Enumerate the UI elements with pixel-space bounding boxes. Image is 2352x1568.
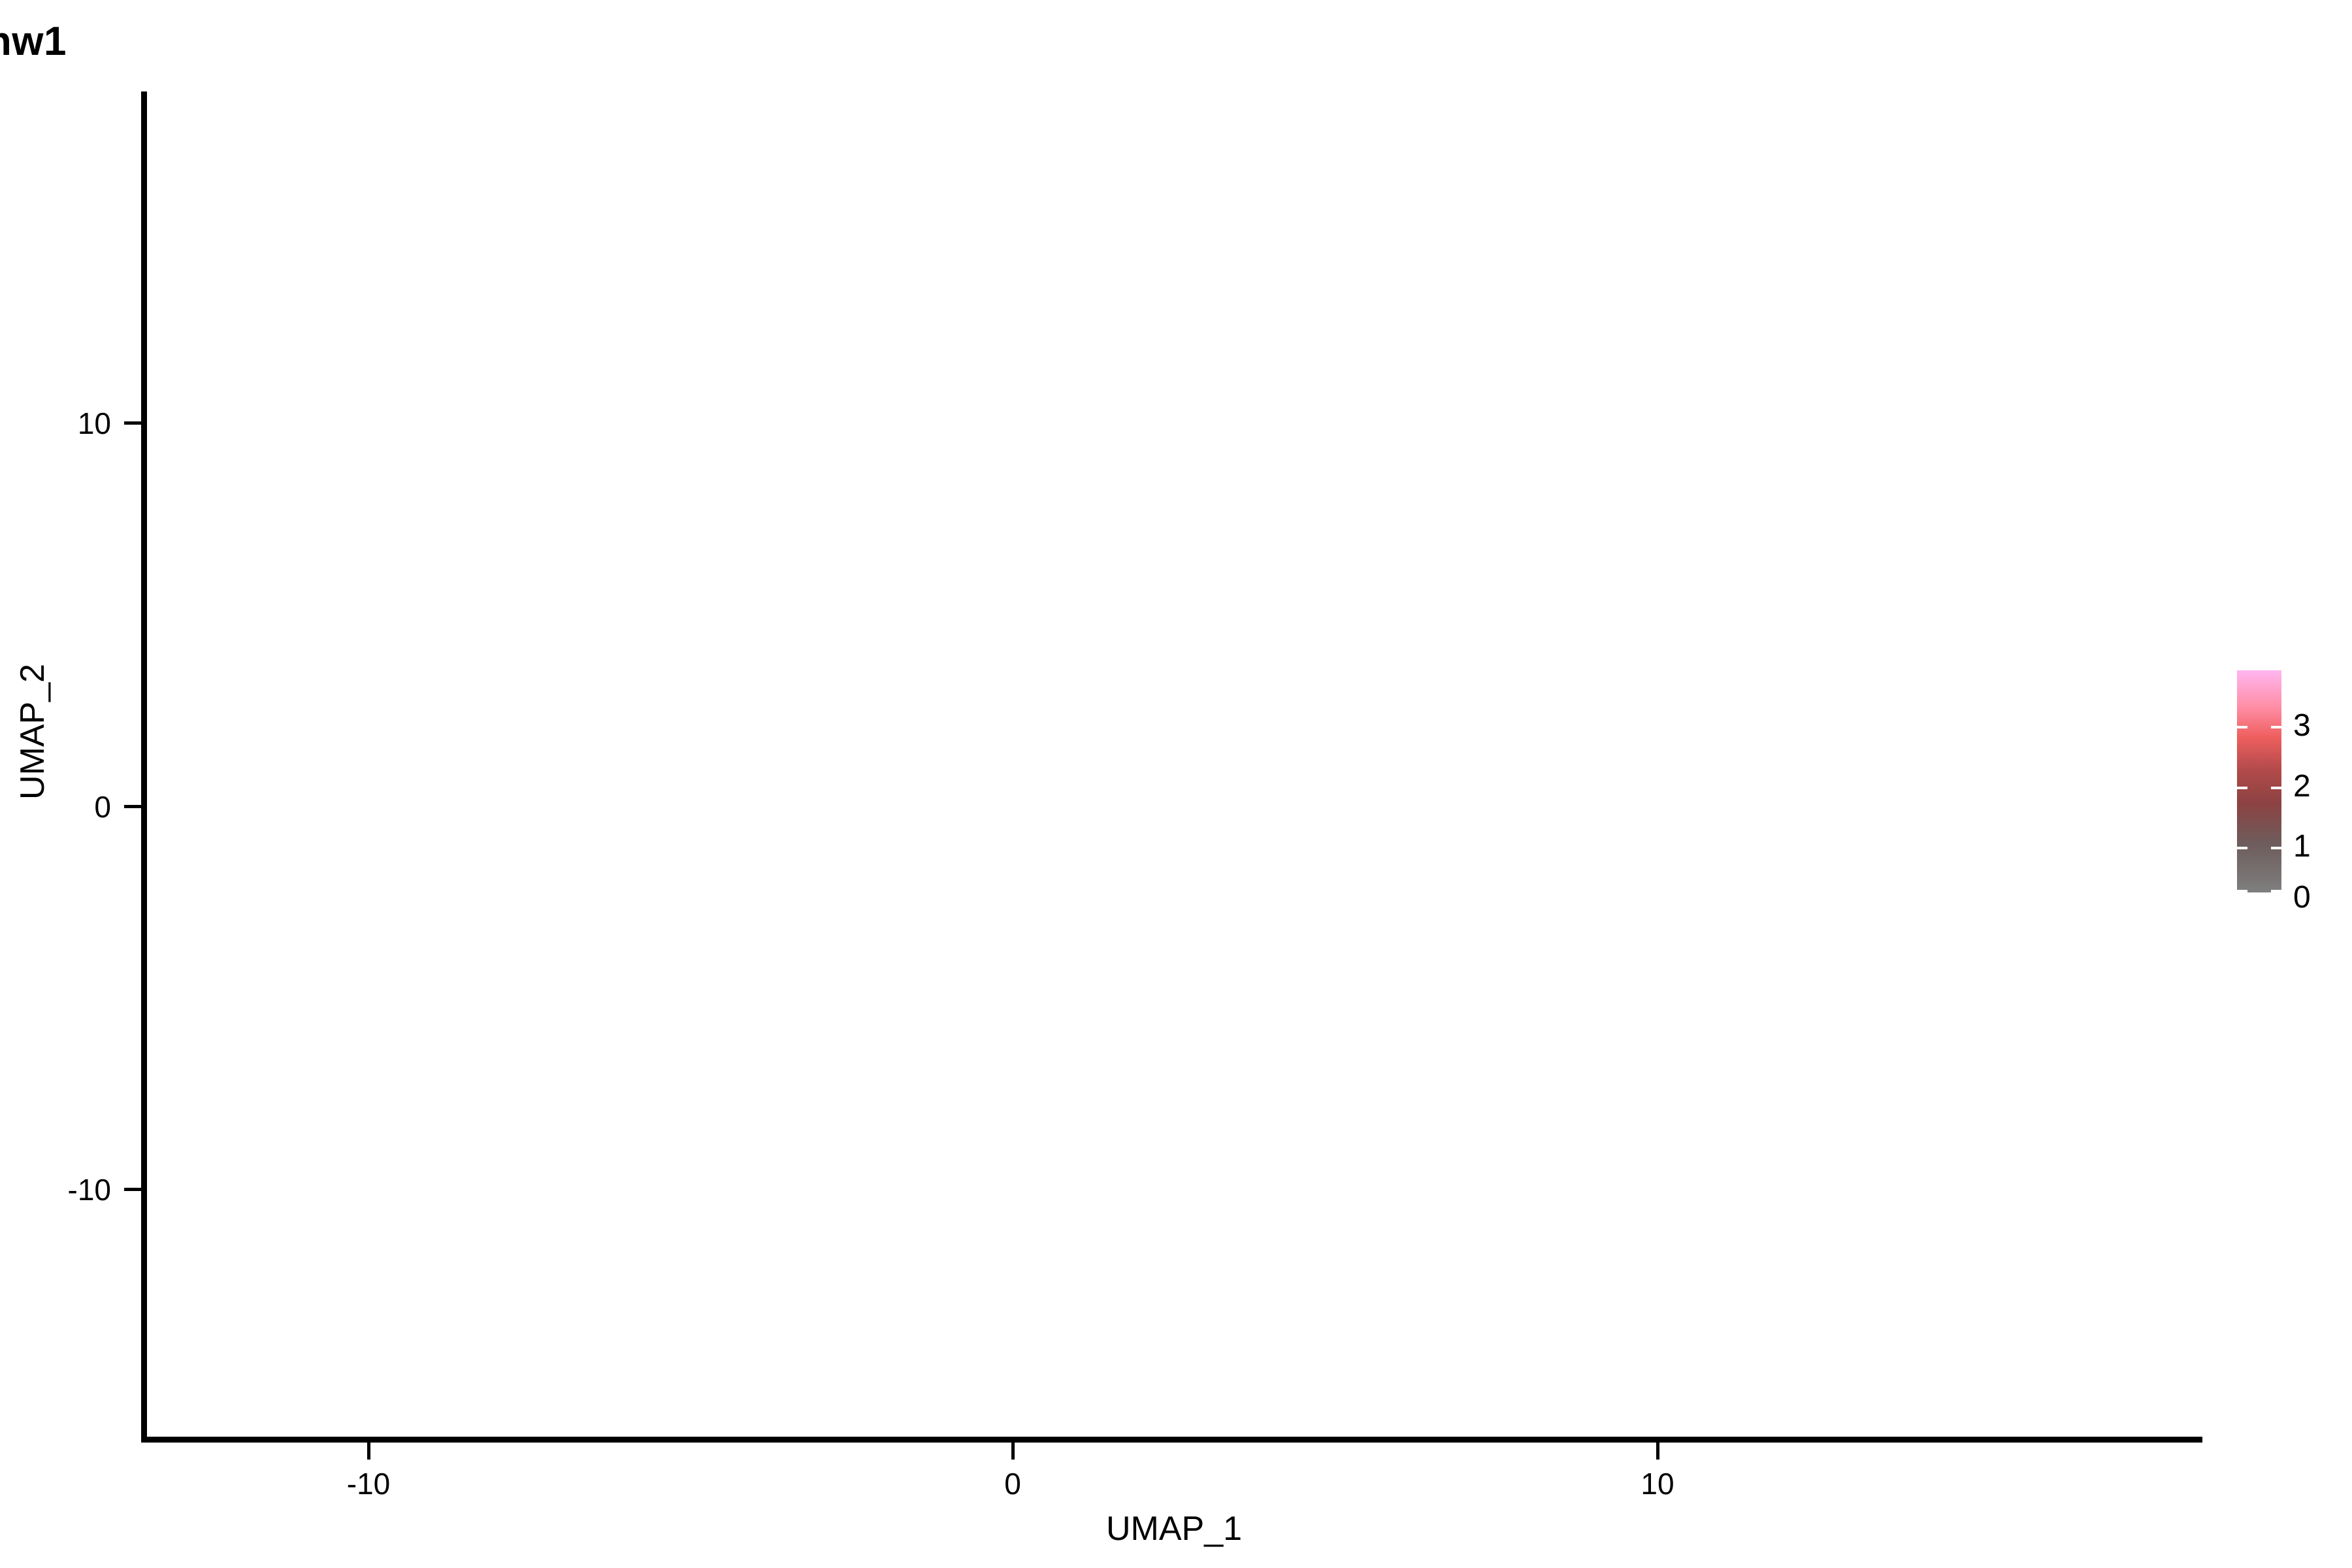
x-tick-label-0: 0 xyxy=(941,1466,1085,1501)
legend-tick-1-left xyxy=(2237,847,2247,849)
legend-tick-3-right xyxy=(2271,726,2281,728)
legend-label-1: 1 xyxy=(2293,831,2311,862)
y-tick-mark-0 xyxy=(124,805,141,808)
y-tick-mark-10 xyxy=(124,421,141,425)
x-tick-mark-10 xyxy=(1656,1443,1659,1460)
legend-tick-0-right xyxy=(2271,890,2281,892)
legend-tick-2-right xyxy=(2271,787,2281,789)
legend-label-2: 2 xyxy=(2293,771,2311,802)
x-tick-mark-0 xyxy=(1011,1443,1015,1460)
plot-panel xyxy=(146,91,2202,1439)
x-tick-label-neg10: -10 xyxy=(297,1466,440,1501)
y-tick-label-10: 10 xyxy=(0,406,111,441)
legend-tick-2-left xyxy=(2237,787,2247,789)
legend-tick-1-right xyxy=(2271,847,2281,849)
legend-label-0: 0 xyxy=(2293,882,2311,913)
color-legend-gradient-bar xyxy=(2237,670,2281,892)
page-title: Snw1 xyxy=(0,18,2352,65)
umap-feature-plot: Snw1 -10 0 10 10 0 -10 UMAP_1 UMAP_2 3 2… xyxy=(0,0,2352,1568)
x-axis-label: UMAP_1 xyxy=(146,1509,2202,1548)
y-tick-label-neg10: -10 xyxy=(0,1172,111,1207)
legend-tick-0-left xyxy=(2237,890,2247,892)
x-axis-line xyxy=(141,1437,2202,1443)
legend-label-3: 3 xyxy=(2293,710,2311,742)
y-tick-mark-neg10 xyxy=(124,1188,141,1191)
color-legend: 3 2 1 0 xyxy=(2237,670,2281,892)
x-tick-label-10: 10 xyxy=(1586,1466,1729,1501)
y-axis-label: UMAP_2 xyxy=(13,438,52,1026)
x-tick-mark-neg10 xyxy=(367,1443,370,1460)
plot-title-text: Snw1 xyxy=(0,19,67,64)
y-axis-line xyxy=(141,91,147,1443)
legend-tick-3-left xyxy=(2237,726,2247,728)
